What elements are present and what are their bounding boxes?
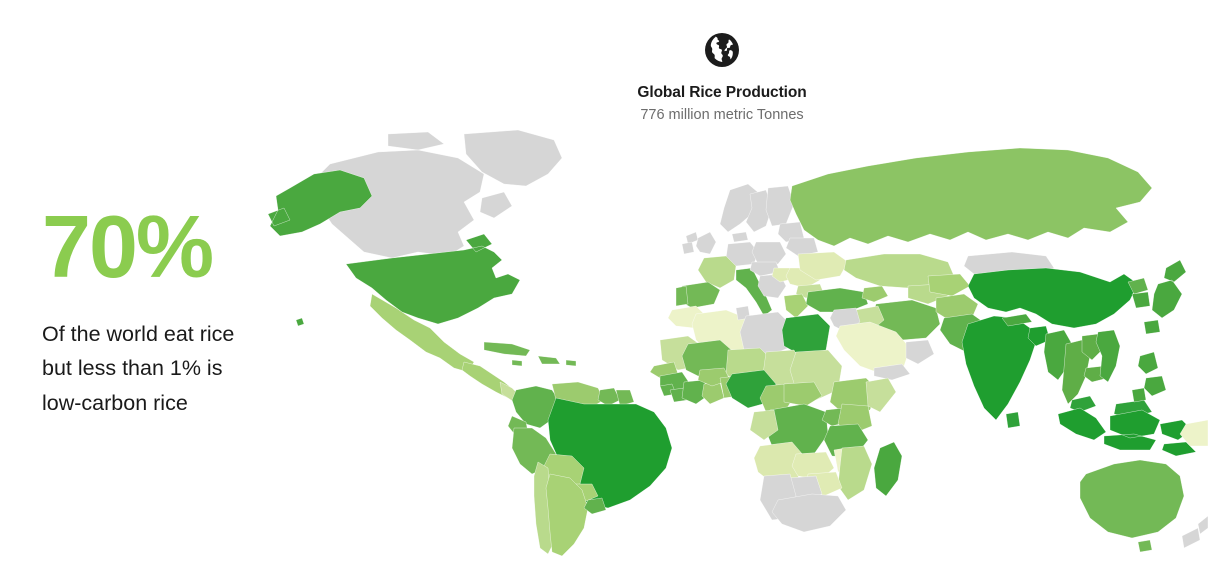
country-cuba — [484, 342, 530, 356]
country-japan — [1144, 260, 1186, 334]
country-suriname — [616, 390, 634, 406]
country-egypt — [782, 314, 830, 356]
country-portugal — [676, 286, 688, 306]
country-south-korea — [1132, 292, 1150, 308]
country-oman — [906, 340, 934, 364]
stat-description-line-3: low-carbon rice — [42, 386, 312, 421]
country-madagascar — [874, 442, 902, 496]
country-south-africa — [772, 494, 846, 532]
country-australia — [1080, 460, 1184, 552]
country-mozambique — [838, 446, 872, 500]
country-india — [962, 316, 1036, 420]
country-philippines — [1132, 352, 1166, 402]
country-turkey — [806, 288, 868, 312]
map-subtitle: 776 million metric Tonnes — [640, 106, 803, 124]
stat-description-line-1: Of the world eat rice — [42, 317, 312, 352]
globe-icon — [702, 30, 742, 70]
stat-description: Of the world eat rice but less than 1% i… — [42, 317, 312, 421]
country-finland — [766, 186, 794, 226]
country-denmark — [732, 232, 748, 242]
country-puerto-rico — [566, 360, 576, 366]
statistic-block: 70% Of the world eat rice but less than … — [42, 205, 312, 421]
country-poland — [752, 242, 786, 264]
country-hispaniola — [538, 356, 560, 364]
country-nepal — [1002, 314, 1032, 326]
country-jamaica — [512, 360, 522, 366]
country-new-zealand — [1182, 516, 1208, 548]
world-choropleth-map — [268, 128, 1208, 573]
country-greece — [784, 294, 808, 318]
map-title-block: Global Rice Production 776 million metri… — [560, 30, 884, 124]
map-title: Global Rice Production — [637, 84, 806, 103]
country-indonesia — [1058, 408, 1196, 456]
country-ireland — [682, 242, 694, 254]
country-sri-lanka — [1006, 412, 1020, 428]
map-countries — [268, 130, 1208, 556]
country-uzbekistan — [928, 274, 970, 296]
stat-description-line-2: but less than 1% is — [42, 351, 312, 386]
infographic-canvas: Global Rice Production 776 million metri… — [0, 0, 1208, 579]
stat-percentage: 70% — [42, 205, 312, 289]
country-russia — [790, 148, 1152, 246]
country-somalia — [866, 378, 896, 412]
